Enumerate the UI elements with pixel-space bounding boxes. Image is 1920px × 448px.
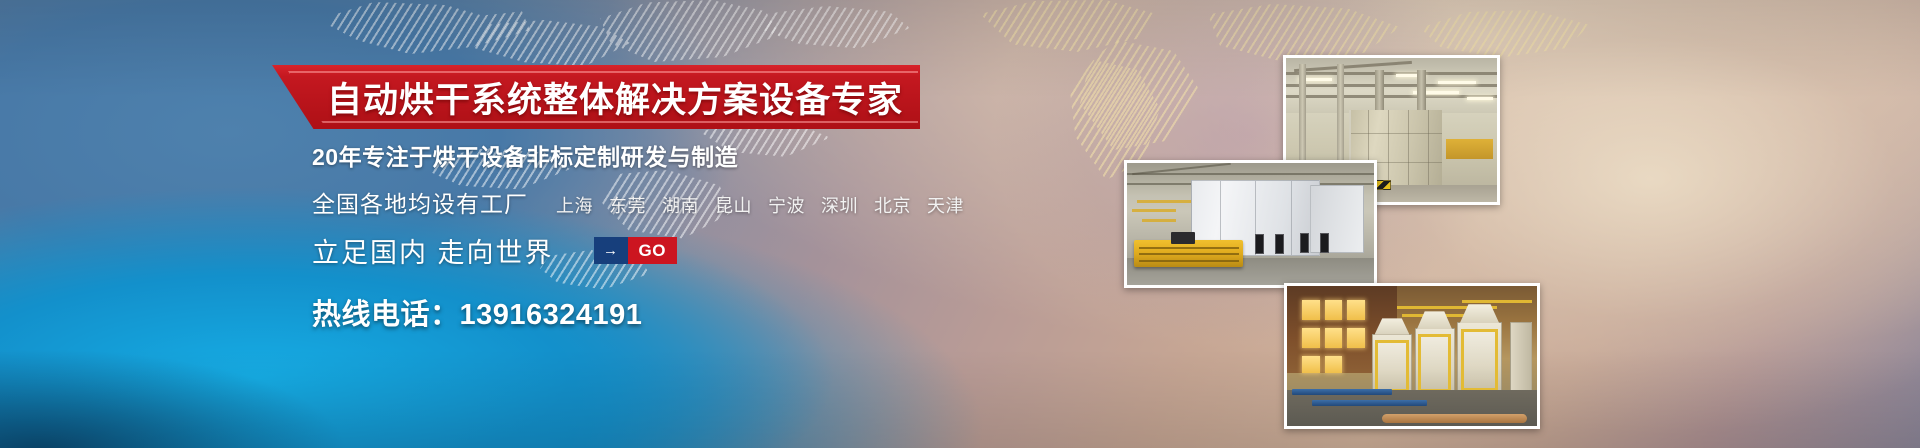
factory-line: 全国各地均设有工厂 上海 东莞 湖南 昆山 宁波 深圳 北京 天津 bbox=[312, 185, 964, 219]
city-item: 天津 bbox=[927, 192, 964, 218]
banner-text-block: 20年专注于烘干设备非标定制研发与制造 全国各地均设有工厂 上海 东莞 湖南 昆… bbox=[312, 138, 964, 333]
promo-banner: 自动烘干系统整体解决方案设备专家 20年专注于烘干设备非标定制研发与制造 全国各… bbox=[0, 0, 1920, 448]
subtitle-text: 20年专注于烘干设备非标定制研发与制造 bbox=[312, 138, 964, 172]
go-button-label: GO bbox=[628, 237, 677, 264]
headline-ribbon: 自动烘干系统整体解决方案设备专家 bbox=[272, 65, 920, 129]
factory-lead-text: 全国各地均设有工厂 bbox=[312, 185, 528, 219]
production-line-photo bbox=[1284, 283, 1540, 429]
city-item: 上海 bbox=[556, 192, 593, 218]
headline-text: 自动烘干系统整体解决方案设备专家 bbox=[272, 65, 920, 129]
arrow-right-icon: → bbox=[594, 237, 628, 264]
slogan-line: 立足国内 走向世界 → GO bbox=[312, 231, 964, 270]
city-item: 东莞 bbox=[609, 192, 646, 218]
oven-chamber-photo bbox=[1124, 160, 1377, 288]
city-item: 北京 bbox=[874, 192, 911, 218]
slogan-text: 立足国内 走向世界 bbox=[312, 231, 554, 270]
city-list: 上海 东莞 湖南 昆山 宁波 深圳 北京 天津 bbox=[556, 192, 964, 218]
city-item: 湖南 bbox=[662, 192, 699, 218]
hotline-phone-text: 热线电话：13916324191 bbox=[312, 291, 964, 333]
city-item: 宁波 bbox=[768, 192, 805, 218]
city-item: 昆山 bbox=[715, 192, 752, 218]
city-item: 深圳 bbox=[821, 192, 858, 218]
go-button[interactable]: → GO bbox=[594, 237, 677, 264]
